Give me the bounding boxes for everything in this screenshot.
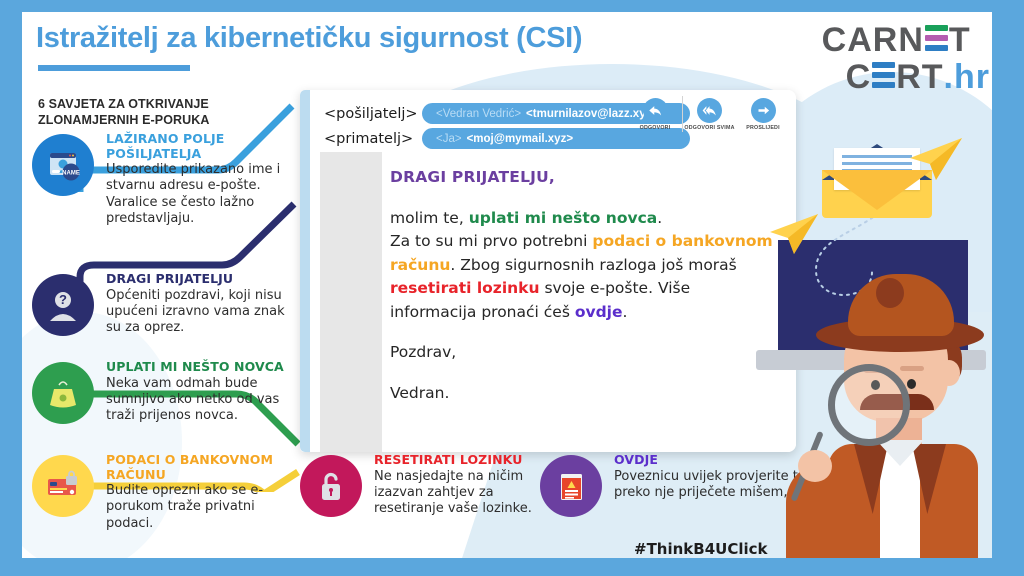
tip-text-block: DRAGI PRIJATELJU Općeniti pozdravi, koji… [106,272,296,336]
logo-carnet-text: CARN [822,24,924,57]
tip-body: Ne nasjedajte na ničim izazvan zahtjev z… [374,469,550,518]
tip-heading: LAŽIRANO POLJE POŠILJATELJA [106,132,284,161]
reply-all-icon [697,98,722,123]
email-body: DRAGI PRIJATELJU, molim te, uplati mi ne… [310,152,796,452]
email-body-gutter [320,152,382,452]
credit-card-lock-icon [32,455,94,517]
reply-all-button-label: ODGOVORI SVIMA [683,125,736,132]
reply-button[interactable]: ODGOVORI [628,96,682,132]
logo-bar-e-top-icon [925,25,948,55]
warning-webpage-icon [540,455,602,517]
tip-body: Usporedite prikazano ime i stvarnu adres… [106,162,284,227]
email-text-2: . [657,209,662,227]
email-greeting: DRAGI PRIJATELJU, [390,166,778,190]
email-from-label: <pošiljatelj> [324,106,422,122]
detective-hand [798,450,832,482]
email-text-4: . Zbog sigurnosnih razloga još moraš [450,256,736,274]
page-title: Istražitelj za kibernetičku sigurnost (C… [36,22,582,55]
tip-text-block: LAŽIRANO POLJE POŠILJATELJA Usporedite p… [106,132,284,227]
forward-button[interactable]: PROSLIJEDI [736,96,790,132]
money-bag-icon [32,362,94,424]
email-text-1: molim te, [390,209,469,227]
email-action-bar: ODGOVORI ODGOVORI SVIMA PROSLIJEDI [628,96,790,132]
tip-text-block: PODACI O BANKOVNOM RAČUNU Budite oprezni… [106,453,296,532]
paper-plane-icon [764,210,828,266]
tip-heading: PODACI O BANKOVNOM RAČUNU [106,453,296,482]
email-preview-panel[interactable]: <pošiljatelj> <Vedran Vedrić> <tmurnilaz… [300,90,796,452]
email-highlight-link[interactable]: ovdje [575,303,623,321]
forward-icon [751,98,776,123]
email-to-display-name: <Ja> [436,133,462,145]
logo-cert-hr: .hr [944,61,990,94]
title-underline [38,65,190,71]
email-to-address: <moj@mymail.xyz> [467,133,573,145]
detective-brow-right [900,366,924,371]
logo-bar-e-bottom-icon [872,62,895,92]
tip-body: Općeniti pozdravi, koji nisu upućeni izr… [106,288,296,337]
infographic-root: Istražitelj za kibernetičku sigurnost (C… [0,0,1024,576]
logo-line-carnet: CARN T [822,24,990,57]
email-text-6: . [623,303,628,321]
tip-heading: UPLATI MI NEŠTO NOVCA [106,360,296,375]
email-highlight-password: resetirati lozinku [390,279,540,297]
hashtag: #ThinkB4UClick [634,540,767,558]
infographic-canvas: Istražitelj za kibernetičku sigurnost (C… [22,12,1002,558]
tip-text-block: RESETIRATI LOZINKU Ne nasjedajte na niči… [374,453,550,517]
carnet-cert-logo: CARN T C RT .hr [822,24,990,95]
email-text-3: Za to su mi prvo potrebni [390,232,592,250]
tip-heading: RESETIRATI LOZINKU [374,453,550,468]
logo-line-cert: C RT .hr [822,61,990,94]
detective-illustration [772,132,1002,558]
right-edge-strip [992,12,1002,558]
paper-plane-icon [902,132,972,192]
email-signoff: Pozdrav, [390,341,778,365]
logo-cert-rt: RT [896,61,943,94]
reply-button-label: ODGOVORI [628,125,682,132]
email-from-display-name: <Vedran Vedrić> [436,108,521,120]
svg-text:?: ? [59,292,67,307]
magnifier-icon [828,364,910,446]
email-highlight-money: uplati mi nešto novca [469,209,658,227]
detective-eye-right [907,379,916,389]
tip-body: Budite oprezni ako se e-porukom traže pr… [106,483,296,532]
detective-hat-dent [876,278,904,308]
email-header: <pošiljatelj> <Vedran Vedrić> <tmurnilaz… [310,90,796,152]
reply-icon [643,98,668,123]
email-body-text: DRAGI PRIJATELJU, molim te, uplati mi ne… [390,166,778,405]
tip-heading: DRAGI PRIJATELJU [106,272,296,287]
browser-profile-name-icon: NAME [32,134,94,196]
tip-text-block: UPLATI MI NEŠTO NOVCA Neka vam odmah bud… [106,360,296,424]
tip-body: Neka vam odmah bude sumnjivo ako netko o… [106,376,296,425]
logo-cert-c: C [846,61,872,94]
email-panel-left-rail [300,90,310,452]
unknown-person-icon: ? [32,274,94,336]
reply-all-button[interactable]: ODGOVORI SVIMA [682,96,736,132]
email-signature: Vedran. [390,382,778,406]
detective-ear [938,360,960,386]
open-padlock-icon [300,455,362,517]
svg-text:NAME: NAME [62,171,80,177]
email-paragraph: molim te, uplati mi nešto novca. Za to s… [390,207,778,325]
email-to-label: <primatelj> [324,131,422,147]
logo-carnet-tail: T [949,24,971,57]
